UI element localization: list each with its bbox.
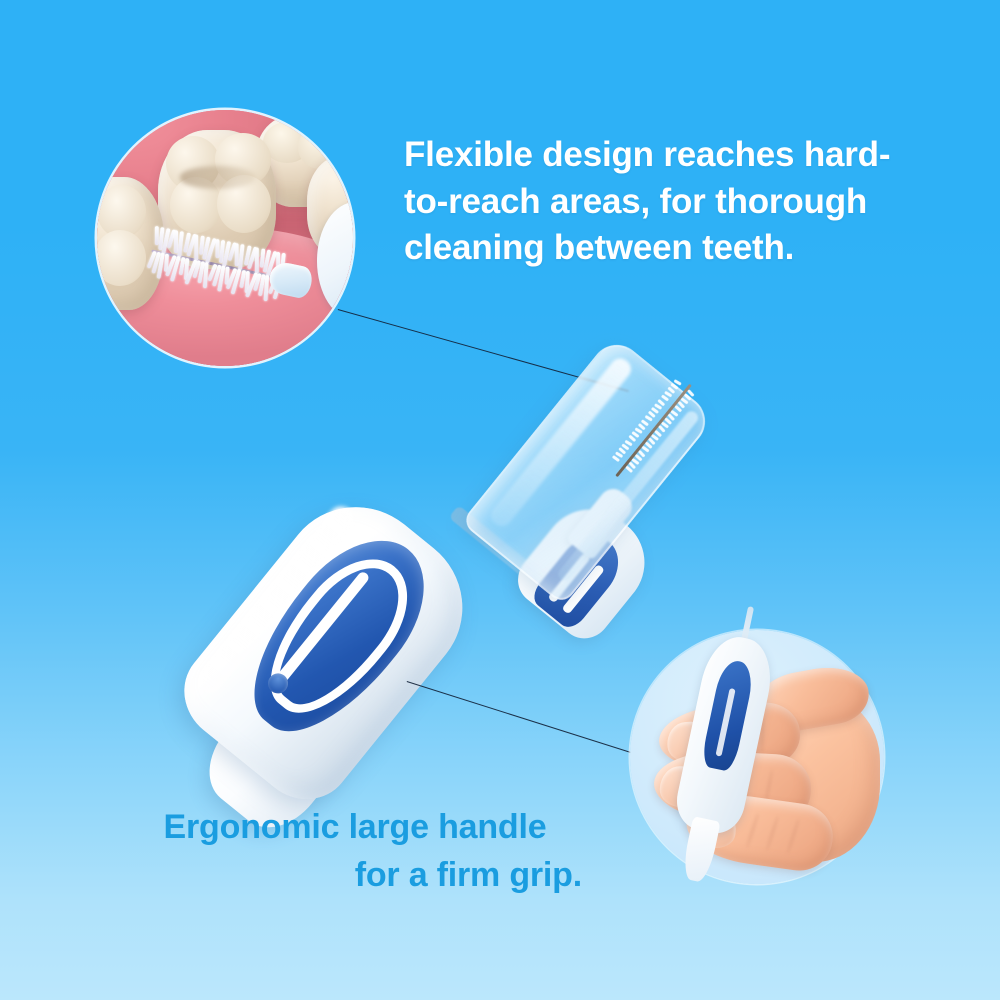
brush-bristle <box>255 248 259 274</box>
inset-hand-grip <box>630 630 884 884</box>
knuckle-crease <box>765 815 779 851</box>
caption-line-1: Ergonomic large handle <box>120 803 590 851</box>
headline-top-callout: Flexible design reaches hard-to-reach ar… <box>404 132 924 272</box>
hand-illustration <box>628 624 890 914</box>
grip-stripe-outer <box>246 538 429 734</box>
product-feature-graphic: Flexible design reaches hard-to-reach ar… <box>0 0 1000 1000</box>
transparent-cap <box>461 334 716 605</box>
knuckle-crease <box>785 818 799 854</box>
caption-line-2: for a firm grip. <box>120 851 590 899</box>
knuckle-crease <box>745 812 759 848</box>
brush-bristle <box>215 239 219 258</box>
caption-bottom-callout: Ergonomic large handle for a firm grip. <box>120 803 590 900</box>
brush-bristle <box>194 235 198 261</box>
brush-bristle <box>154 226 158 245</box>
hand-brush-tail <box>680 816 720 883</box>
